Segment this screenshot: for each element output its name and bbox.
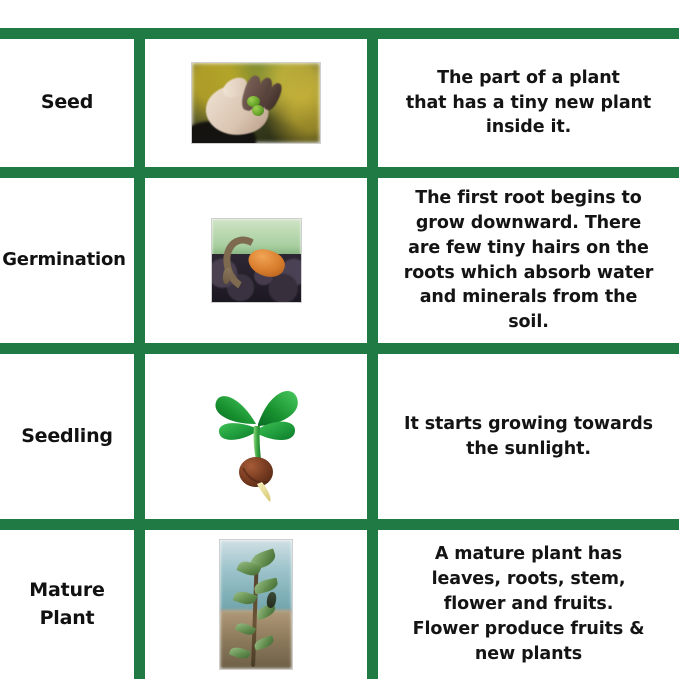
image-cell-seed bbox=[145, 39, 367, 167]
stage-label: Mature Plant bbox=[29, 577, 104, 632]
table-row-germination: Germination The first root begins to gro… bbox=[0, 178, 679, 343]
stage-label: Seed bbox=[41, 89, 93, 117]
seedling-illustration bbox=[196, 372, 316, 502]
table-row-seedling: Seedling bbox=[0, 354, 679, 519]
image-cell-mature-plant bbox=[145, 530, 367, 679]
stage-cell-germination: Germination bbox=[0, 178, 134, 343]
description-cell-seed: The part of a plant that has a tiny new … bbox=[378, 39, 679, 167]
description-text: It starts growing towards the sunlight. bbox=[404, 412, 653, 462]
table-row-mature-plant: Mature Plant A mature plant has leaves, … bbox=[0, 530, 679, 679]
grid-hline-row2-row3 bbox=[0, 343, 679, 354]
description-cell-seedling: It starts growing towards the sunlight. bbox=[378, 354, 679, 519]
description-text: The first root begins to grow downward. … bbox=[404, 186, 654, 335]
stage-cell-seedling: Seedling bbox=[0, 354, 134, 519]
stage-cell-seed: Seed bbox=[0, 39, 134, 167]
grid-hline-row3-row4 bbox=[0, 519, 679, 530]
image-cell-germination bbox=[145, 178, 367, 343]
germinating-seed-photo bbox=[211, 218, 302, 303]
stage-cell-mature-plant: Mature Plant bbox=[0, 530, 134, 679]
stage-label: Seedling bbox=[21, 423, 113, 451]
description-cell-mature-plant: A mature plant has leaves, roots, stem, … bbox=[378, 530, 679, 679]
description-text: The part of a plant that has a tiny new … bbox=[406, 66, 651, 141]
mature-plant-photo bbox=[219, 539, 293, 670]
description-text: A mature plant has leaves, roots, stem, … bbox=[413, 542, 645, 666]
plant-lifecycle-table: Seed The part of a plant that has a tiny… bbox=[0, 0, 679, 679]
grid-hline-row1-row2 bbox=[0, 167, 679, 178]
seed-in-hand-photo bbox=[191, 62, 321, 144]
image-cell-seedling bbox=[145, 354, 367, 519]
grid-hline-top bbox=[0, 28, 679, 39]
seedling-svg bbox=[196, 372, 316, 502]
description-cell-germination: The first root begins to grow downward. … bbox=[378, 178, 679, 343]
table-row-seed: Seed The part of a plant that has a tiny… bbox=[0, 39, 679, 167]
stage-label: Germination bbox=[2, 247, 126, 273]
